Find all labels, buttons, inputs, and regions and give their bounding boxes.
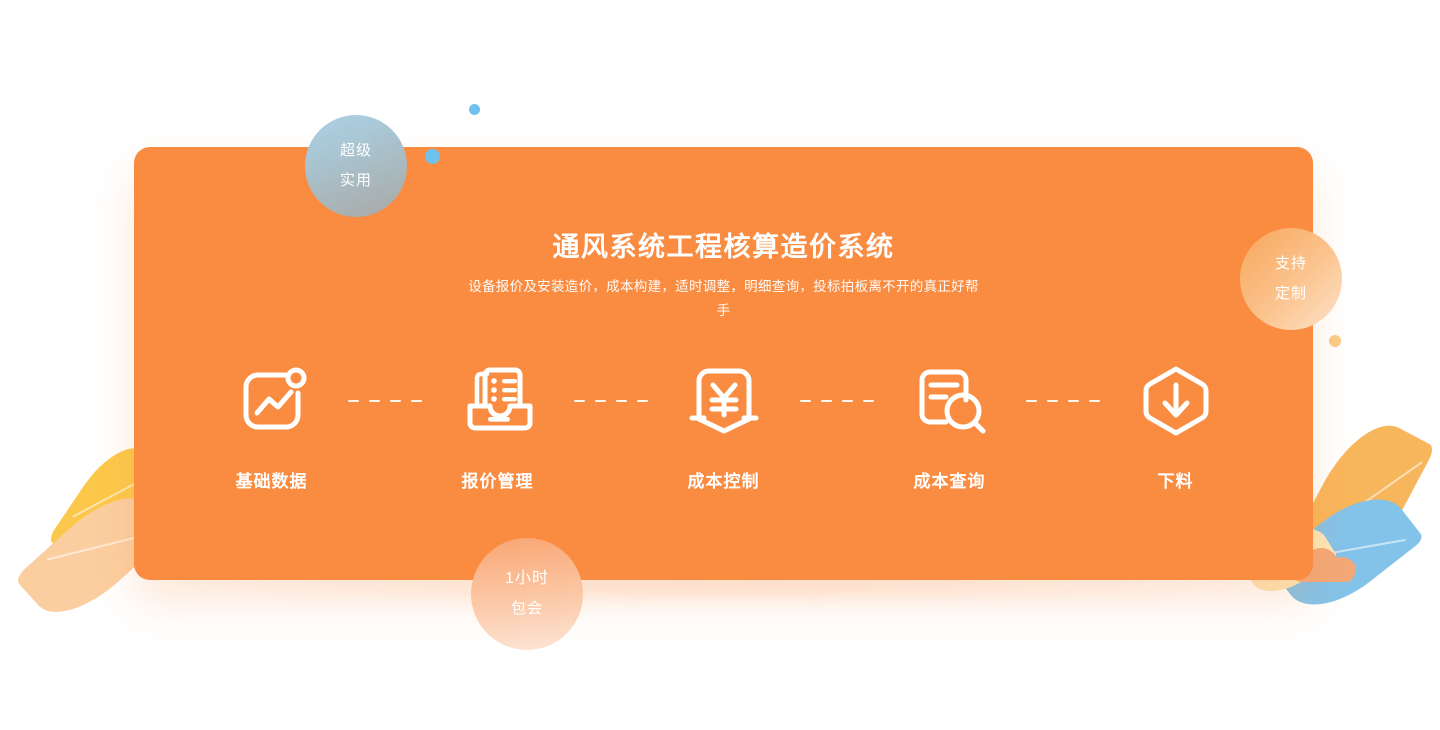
- feature-connector: [569, 359, 653, 443]
- decorative-dot-blue-large: [425, 149, 440, 164]
- page-subtitle: 设备报价及安装造价，成本构建，适时调整，明细查询，投标拍板离不开的真正好帮手: [464, 275, 984, 323]
- feature-connector: [795, 359, 879, 443]
- badge-one-hour-guarantee: 1小时 包会: [471, 538, 583, 650]
- feature-label: 报价管理: [462, 467, 534, 492]
- inbox-document-icon: [456, 359, 540, 443]
- document-search-icon: [908, 359, 992, 443]
- feature-label: 基础数据: [236, 467, 308, 492]
- badge-super-practical: 超级 实用: [305, 115, 407, 217]
- feature-label: 成本控制: [688, 467, 760, 492]
- feature-item-quotation-management[interactable]: 报价管理: [427, 359, 569, 492]
- badge-line-1: 超级: [340, 136, 372, 166]
- decorative-dot-blue-small: [469, 104, 480, 115]
- feature-item-cost-query[interactable]: 成本查询: [879, 359, 1021, 492]
- badge-line-2: 包会: [511, 594, 543, 624]
- feature-item-cost-control[interactable]: 成本控制: [653, 359, 795, 492]
- chart-square-icon: [230, 359, 314, 443]
- decorative-dot-orange: [1329, 335, 1341, 347]
- feature-label: 下料: [1158, 467, 1194, 492]
- yuan-shield-icon: [682, 359, 766, 443]
- hero-card: 通风系统工程核算造价系统 设备报价及安装造价，成本构建，适时调整，明细查询，投标…: [134, 147, 1313, 580]
- feature-item-basic-data[interactable]: 基础数据: [201, 359, 343, 492]
- badge-line-2: 定制: [1275, 279, 1307, 309]
- feature-list: 基础数据: [134, 359, 1313, 492]
- feature-connector: [343, 359, 427, 443]
- badge-line-1: 1小时: [505, 564, 549, 594]
- feature-connector: [1021, 359, 1105, 443]
- feature-item-material-cutting[interactable]: 下料: [1105, 359, 1247, 492]
- hexagon-download-icon: [1134, 359, 1218, 443]
- badge-supports-customization: 支持 定制: [1240, 228, 1342, 330]
- feature-label: 成本查询: [914, 467, 986, 492]
- badge-line-1: 支持: [1275, 249, 1307, 279]
- badge-line-2: 实用: [340, 166, 372, 196]
- page-root: 通风系统工程核算造价系统 设备报价及安装造价，成本构建，适时调整，明细查询，投标…: [0, 0, 1440, 730]
- page-title: 通风系统工程核算造价系统: [134, 231, 1313, 263]
